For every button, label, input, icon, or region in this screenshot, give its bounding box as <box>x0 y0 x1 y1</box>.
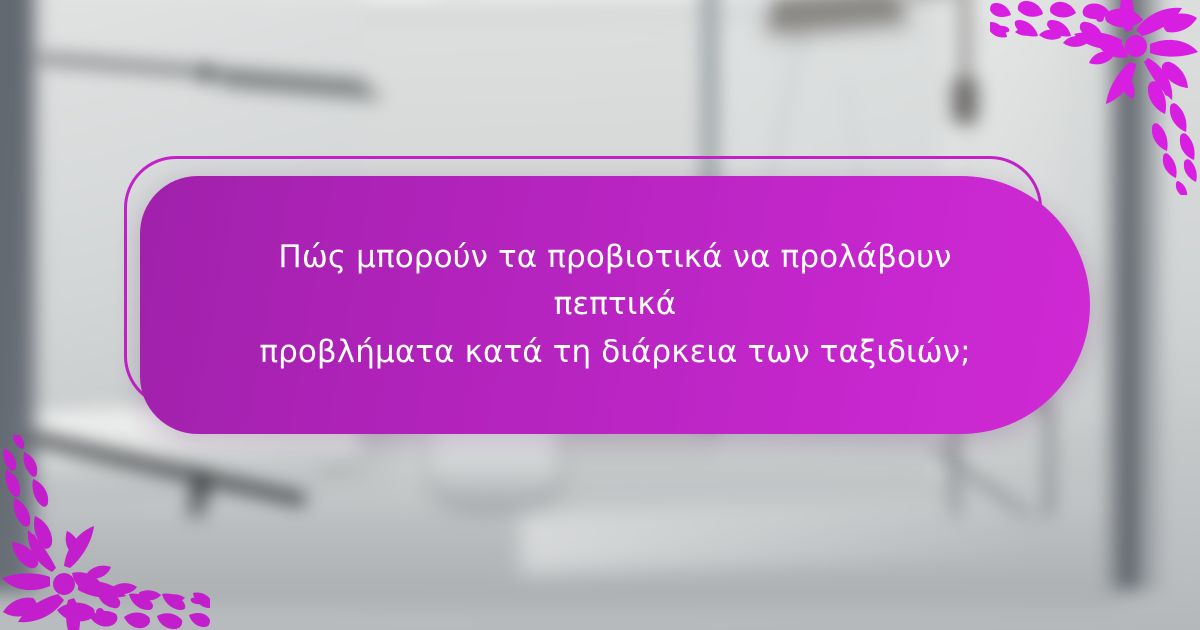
shower-valve <box>952 78 978 124</box>
left-door-frame <box>0 0 32 590</box>
quote-card: Πώς μπορούν τα προβιοτικά να προλάβουν π… <box>140 176 1090 434</box>
right-wall-edge <box>1138 0 1160 590</box>
rail-knob <box>198 65 214 81</box>
quote-text: Πώς μπορούν τα προβιοτικά να προλάβουν π… <box>192 234 1038 375</box>
quote-card-graphic: Πώς μπορούν τα προβιοτικά να προλάβουν π… <box>0 0 1200 630</box>
right-door-frame <box>1108 0 1138 590</box>
